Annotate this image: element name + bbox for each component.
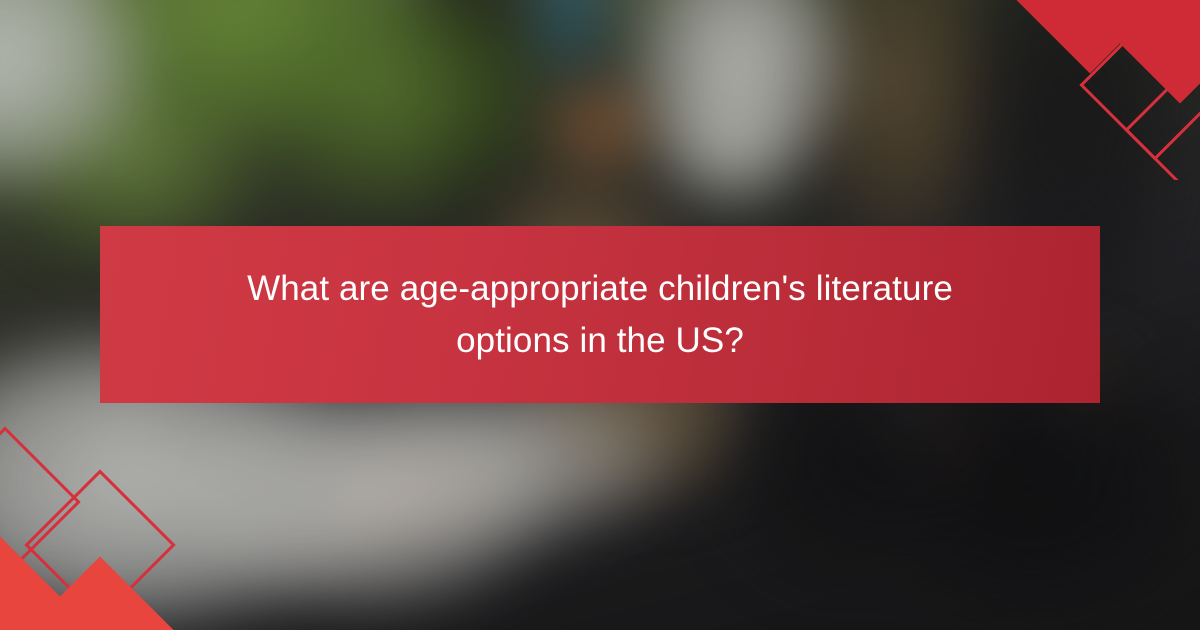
question-banner: What are age-appropriate children's lite… bbox=[100, 226, 1100, 403]
question-card: What are age-appropriate children's lite… bbox=[0, 0, 1200, 630]
question-text: What are age-appropriate children's lite… bbox=[205, 263, 995, 367]
